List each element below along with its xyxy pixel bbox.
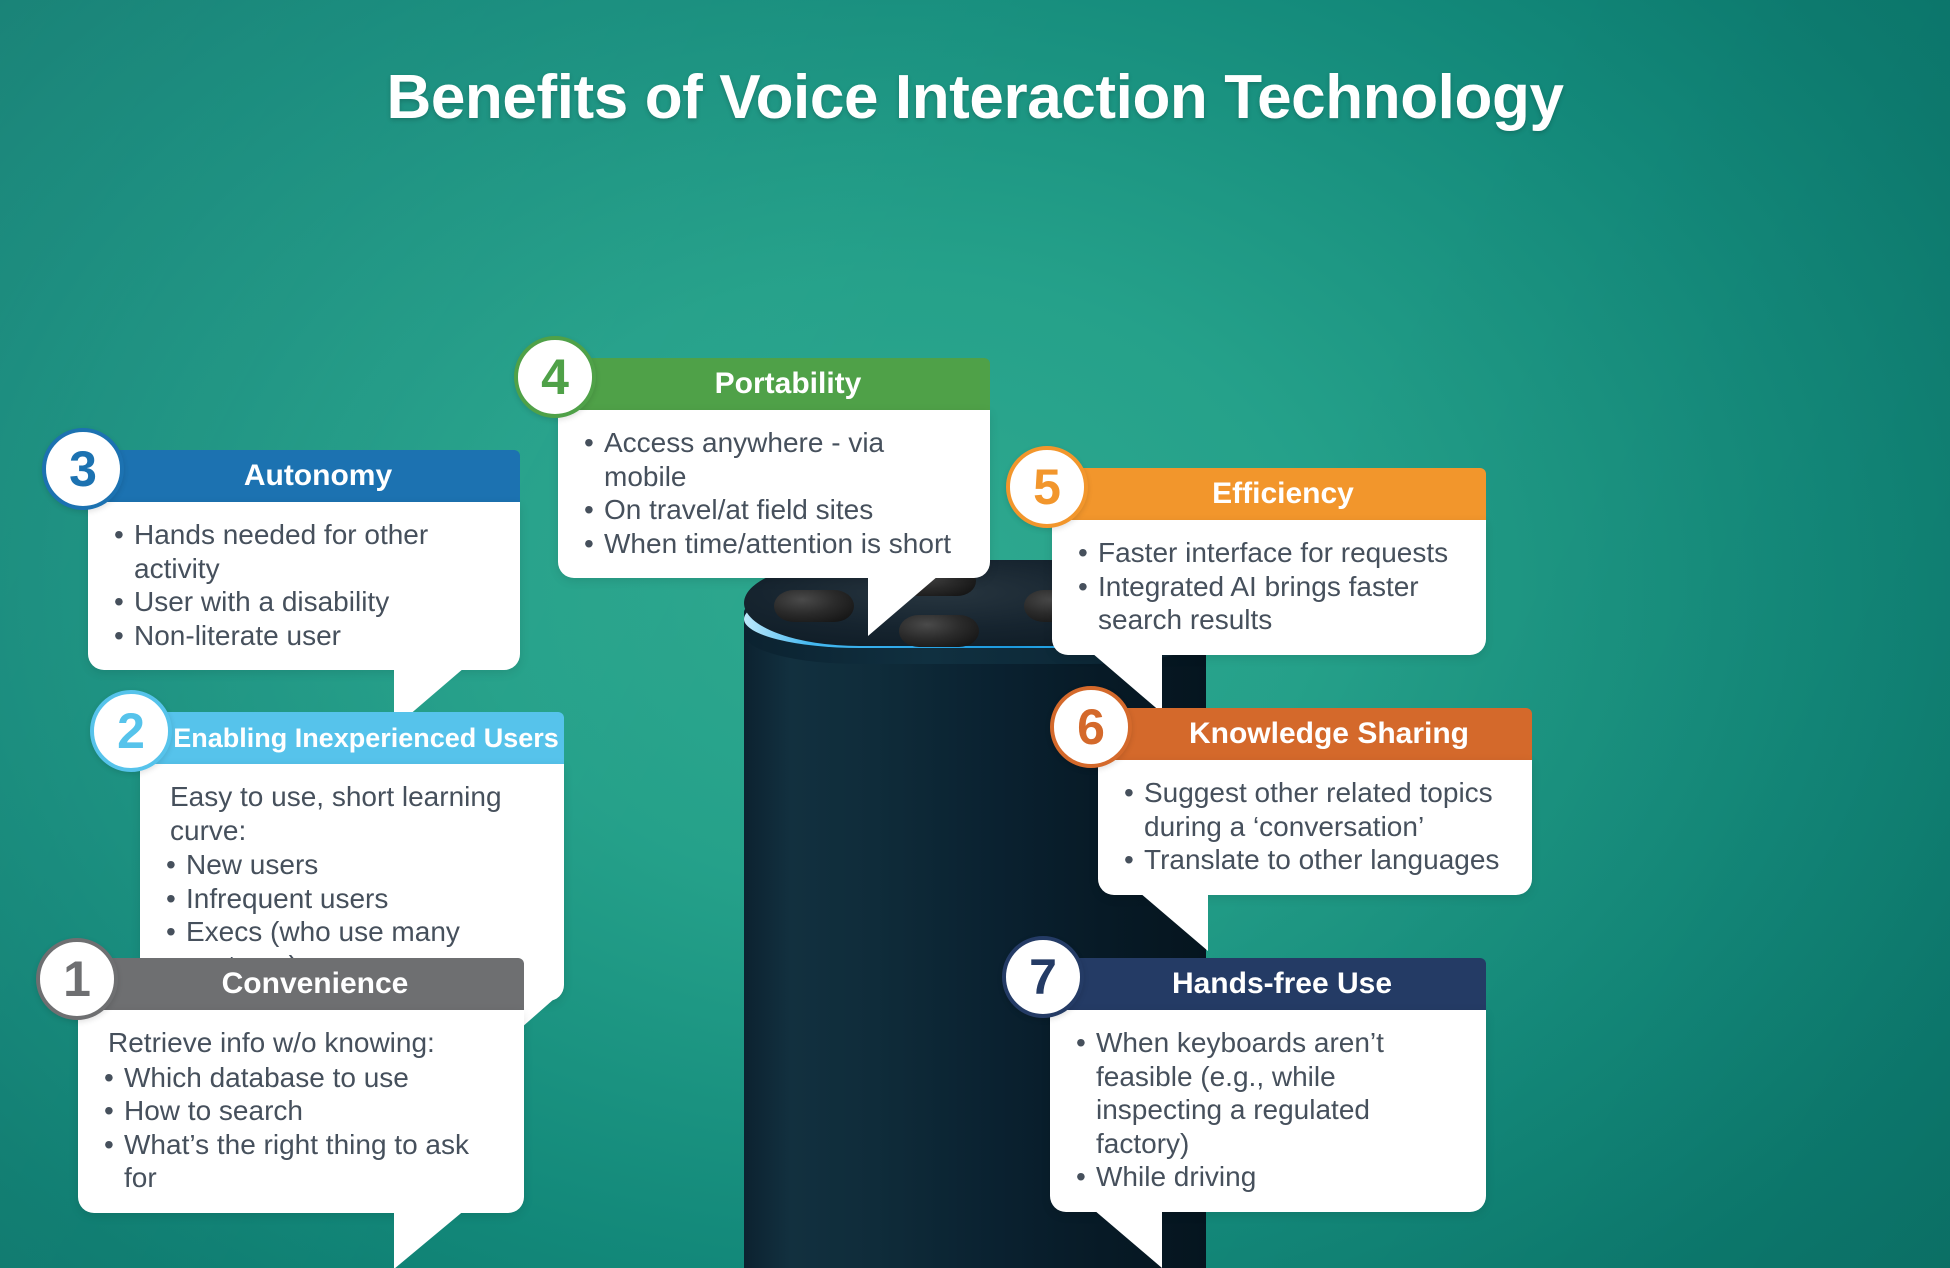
benefit-card-hands-free-use[interactable]: 7 Hands-free Use When keyboards aren’t f… xyxy=(1050,958,1486,1212)
bullet-list: Faster interface for requests Integrated… xyxy=(1078,536,1464,637)
badge-number-1: 1 xyxy=(36,938,118,1020)
badge-number-5: 5 xyxy=(1006,446,1088,528)
list-item: Translate to other languages xyxy=(1124,843,1510,877)
list-item: Faster interface for requests xyxy=(1078,536,1464,570)
bullet-list: When keyboards aren’t feasible (e.g., wh… xyxy=(1076,1026,1464,1194)
list-item: How to search xyxy=(104,1094,502,1128)
list-item: Hands needed for other activity xyxy=(114,518,498,585)
list-item: New users xyxy=(166,848,542,882)
card-body-autonomy: Hands needed for other activity User wit… xyxy=(88,502,520,670)
bullet-list: Suggest other related topics during a ‘c… xyxy=(1124,776,1510,877)
card-body-convenience: Retrieve info w/o knowing: Which databas… xyxy=(78,1010,524,1213)
list-item: Infrequent users xyxy=(166,882,542,916)
benefit-card-efficiency[interactable]: 5 Efficiency Faster interface for reques… xyxy=(1052,468,1486,655)
benefit-card-portability[interactable]: 4 Portability Access anywhere - via mobi… xyxy=(558,358,990,578)
badge-number-6: 6 xyxy=(1050,686,1132,768)
badge-number-3: 3 xyxy=(42,428,124,510)
bullet-list: Access anywhere - via mobile On travel/a… xyxy=(584,426,968,560)
card-body-knowledge-sharing: Suggest other related topics during a ‘c… xyxy=(1098,760,1532,895)
list-item: Access anywhere - via mobile xyxy=(584,426,968,493)
benefit-card-autonomy[interactable]: 3 Autonomy Hands needed for other activi… xyxy=(88,450,520,670)
card-body-hands-free-use: When keyboards aren’t feasible (e.g., wh… xyxy=(1050,1010,1486,1212)
card-title-knowledge-sharing: Knowledge Sharing xyxy=(1098,708,1532,760)
list-item: When time/attention is short xyxy=(584,527,968,561)
page-title: Benefits of Voice Interaction Technology xyxy=(0,62,1950,133)
speech-bubble-tail xyxy=(868,576,938,636)
list-item: Suggest other related topics during a ‘c… xyxy=(1124,776,1510,843)
list-item: When keyboards aren’t feasible (e.g., wh… xyxy=(1076,1026,1464,1160)
microphone-hole-icon xyxy=(774,590,854,622)
card-title-hands-free-use: Hands-free Use xyxy=(1050,958,1486,1010)
card-body-efficiency: Faster interface for requests Integrated… xyxy=(1052,520,1486,655)
card-title-efficiency: Efficiency xyxy=(1052,468,1486,520)
card-body-portability: Access anywhere - via mobile On travel/a… xyxy=(558,410,990,578)
list-item: Integrated AI brings faster search resul… xyxy=(1078,570,1464,637)
card-title-autonomy: Autonomy xyxy=(88,450,520,502)
speech-bubble-tail xyxy=(394,1209,466,1268)
list-item: While driving xyxy=(1076,1160,1464,1194)
card-title-convenience: Convenience xyxy=(78,958,524,1010)
bullet-list: Which database to use How to search What… xyxy=(104,1061,502,1195)
infographic-canvas: Benefits of Voice Interaction Technology… xyxy=(0,0,1950,1268)
card-lead-text: Easy to use, short learning curve: xyxy=(166,780,542,847)
list-item: Which database to use xyxy=(104,1061,502,1095)
benefit-card-knowledge-sharing[interactable]: 6 Knowledge Sharing Suggest other relate… xyxy=(1098,708,1532,895)
benefit-card-convenience[interactable]: 1 Convenience Retrieve info w/o knowing:… xyxy=(78,958,524,1213)
speech-bubble-tail xyxy=(1094,1210,1162,1268)
list-item: What’s the right thing to ask for xyxy=(104,1128,502,1195)
list-item: User with a disability xyxy=(114,585,498,619)
list-item: Non-literate user xyxy=(114,619,498,653)
speech-bubble-tail xyxy=(1140,893,1208,951)
bullet-list: Hands needed for other activity User wit… xyxy=(114,518,498,652)
badge-number-4: 4 xyxy=(514,336,596,418)
list-item: On travel/at field sites xyxy=(584,493,968,527)
badge-number-7: 7 xyxy=(1002,936,1084,1018)
card-title-portability: Portability xyxy=(558,358,990,410)
badge-number-2: 2 xyxy=(90,690,172,772)
card-title-enabling-inexperienced-users: Enabling Inexperienced Users xyxy=(140,712,564,764)
card-lead-text: Retrieve info w/o knowing: xyxy=(104,1026,502,1060)
